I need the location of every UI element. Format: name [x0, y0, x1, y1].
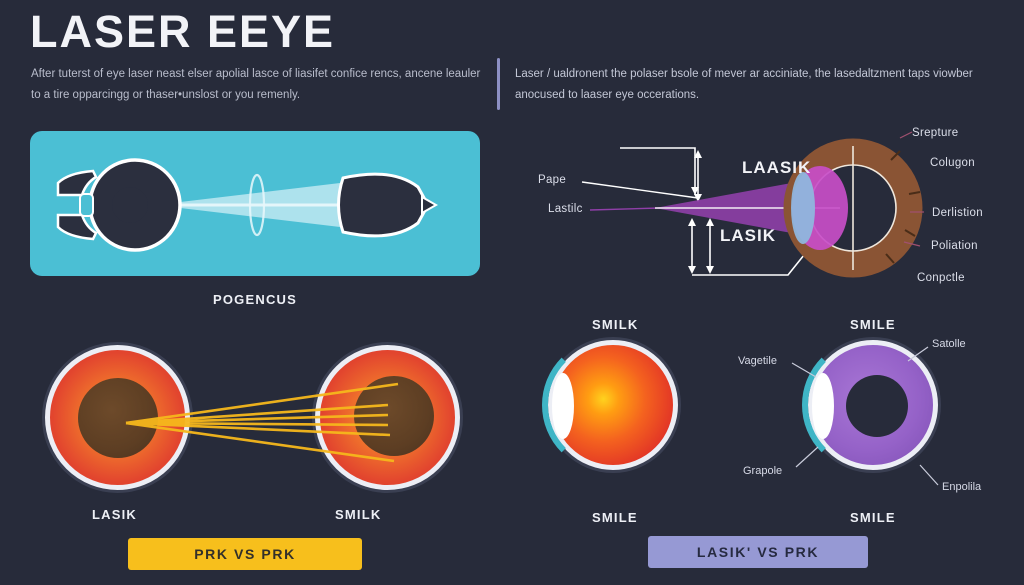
- diagram-label-lastilc: Lastilc: [548, 203, 583, 215]
- page-title: LASER EEYE: [30, 8, 335, 55]
- caption-smile-top: SMILE: [850, 317, 896, 332]
- diagram-label-colugon: Colugon: [930, 157, 975, 169]
- diagram-label-pape: Pape: [538, 174, 566, 186]
- cornea: [791, 172, 815, 244]
- column-divider: [497, 58, 500, 110]
- smilk-smile-comparison[interactable]: SMILK SMILE SMILE SMILE Vagetile Satolle…: [530, 305, 1024, 535]
- poster-root: LASER EEYE After tuterst of eye laser ne…: [0, 0, 1024, 585]
- eye-cross-section-icon: [58, 160, 180, 250]
- diagram-label-conpctle: Conpctle: [917, 272, 965, 284]
- caption-lasik: LASIK: [92, 507, 137, 522]
- callout-enpolila: Enpolila: [942, 481, 981, 493]
- diagram-label-laasik: LAASIK: [742, 158, 811, 178]
- diagram-label-lasik: LASIK: [720, 226, 776, 246]
- lasik-smilk-comparison[interactable]: LASIK SMILK: [30, 335, 490, 505]
- eye-laser-diagram-svg: [30, 131, 480, 276]
- lasik-cross-section-diagram[interactable]: Pape Lastilc LAASIK LASIK Srepture Colug…: [520, 120, 1024, 295]
- ray-lines: [30, 335, 490, 505]
- caption-smile-bottom-right: SMILE: [850, 510, 896, 525]
- caption-smile-bottom-left: SMILE: [592, 510, 638, 525]
- prk-vs-prk-button[interactable]: PRK VS PRK: [128, 538, 362, 570]
- lasik-vs-prk-button[interactable]: LASIK' VS PRK: [648, 536, 868, 568]
- diagram-label-srepture: Srepture: [912, 127, 959, 139]
- caption-smilk-top: SMILK: [592, 317, 638, 332]
- intro-paragraph-right: Laser / ualdronent the polaser bsole of …: [515, 64, 1005, 107]
- caption-smilk: SMILK: [335, 507, 381, 522]
- callout-vagetile: Vagetile: [738, 355, 777, 367]
- callout-grapole: Grapole: [743, 465, 782, 477]
- diagram-label-derlistion: Derlistion: [932, 207, 983, 219]
- callout-satolle: Satolle: [932, 338, 966, 350]
- eye-laser-illustration-panel[interactable]: [30, 131, 480, 276]
- intro-paragraph-left: After tuterst of eye laser neast elser a…: [31, 64, 481, 107]
- panel-caption: POGENCUS: [30, 292, 480, 307]
- laser-emitter-icon: [339, 174, 437, 236]
- diagram-label-poliation: Poliation: [931, 240, 978, 252]
